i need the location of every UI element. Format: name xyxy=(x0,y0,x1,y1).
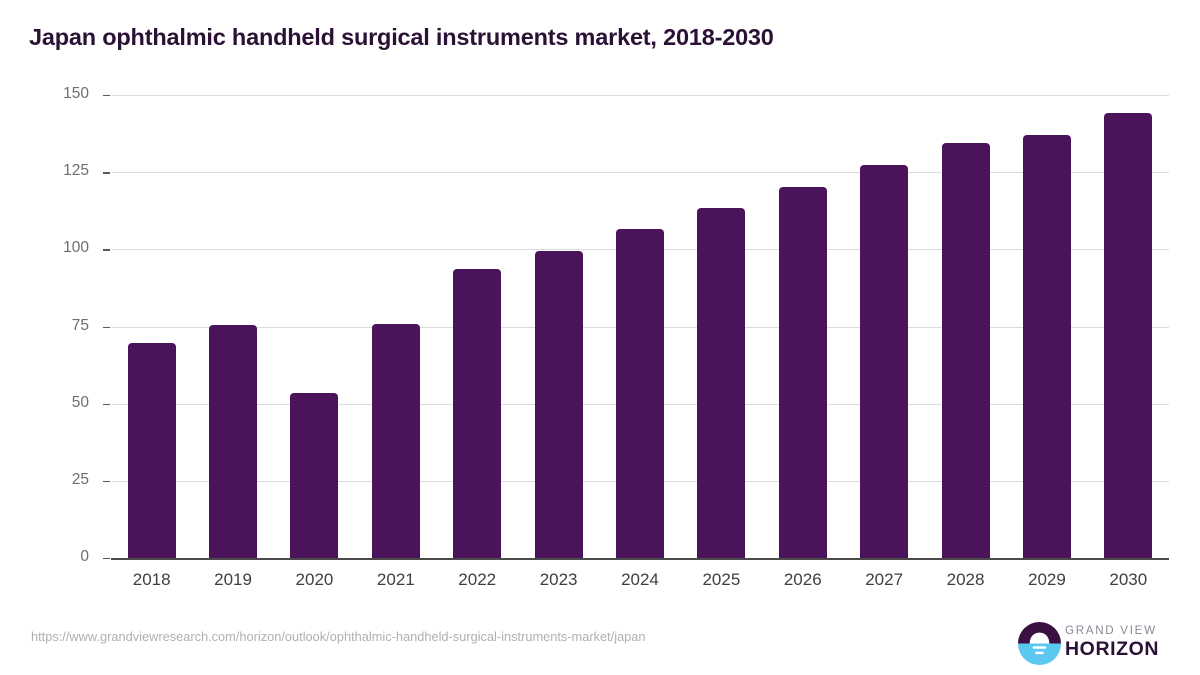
y-axis-tick-label: 100 xyxy=(0,239,89,257)
x-axis-tick-label: 2030 xyxy=(1088,570,1169,590)
chart-page: Japan ophthalmic handheld surgical instr… xyxy=(0,0,1200,675)
y-axis-tick-label: 50 xyxy=(0,394,89,412)
bar[interactable] xyxy=(1023,135,1071,558)
x-axis-tick-label: 2023 xyxy=(518,570,599,590)
y-axis-tick-label: 150 xyxy=(0,85,89,103)
x-axis-tick-label: 2021 xyxy=(355,570,436,590)
x-axis-tick-label: 2024 xyxy=(599,570,680,590)
horizon-sun-circle-icon xyxy=(1018,622,1061,665)
y-axis-tick-mark xyxy=(103,558,110,559)
bar[interactable] xyxy=(535,251,583,558)
y-axis-tick-mark xyxy=(103,95,110,96)
gridline xyxy=(111,95,1169,96)
x-axis-tick-label: 2019 xyxy=(192,570,273,590)
bar[interactable] xyxy=(860,165,908,558)
y-axis-tick-mark xyxy=(103,249,110,250)
x-axis-tick-label: 2028 xyxy=(925,570,1006,590)
source-url[interactable]: https://www.grandviewresearch.com/horizo… xyxy=(31,629,646,644)
y-axis-tick-mark xyxy=(103,404,110,405)
bar[interactable] xyxy=(616,229,664,558)
bar[interactable] xyxy=(779,187,827,558)
x-axis-tick-label: 2025 xyxy=(681,570,762,590)
bar[interactable] xyxy=(453,269,501,558)
y-axis-tick-mark xyxy=(103,172,110,173)
logo-text-grand-view: GRAND VIEW xyxy=(1065,623,1159,638)
gridline xyxy=(111,172,1169,173)
x-axis-tick-label: 2022 xyxy=(437,570,518,590)
y-axis-tick-label: 75 xyxy=(0,317,89,335)
bar[interactable] xyxy=(1104,113,1152,558)
bar[interactable] xyxy=(942,143,990,558)
y-axis-tick-label: 125 xyxy=(0,162,89,180)
bar[interactable] xyxy=(372,324,420,558)
x-axis-line xyxy=(111,558,1169,560)
page-title: Japan ophthalmic handheld surgical instr… xyxy=(29,24,774,51)
x-axis-tick-label: 2020 xyxy=(274,570,355,590)
x-axis-tick-label: 2026 xyxy=(762,570,843,590)
y-axis-tick-mark xyxy=(103,481,110,482)
bar[interactable] xyxy=(290,393,338,558)
x-axis-tick-label: 2027 xyxy=(843,570,924,590)
bar[interactable] xyxy=(128,343,176,558)
bar[interactable] xyxy=(697,208,745,558)
y-axis-tick-label: 0 xyxy=(0,548,89,566)
y-axis-tick-label: 25 xyxy=(0,471,89,489)
x-axis-tick-label: 2018 xyxy=(111,570,192,590)
x-axis-tick-label: 2029 xyxy=(1006,570,1087,590)
bar[interactable] xyxy=(209,325,257,558)
logo-text-horizon: HORIZON xyxy=(1065,638,1159,660)
y-axis-tick-mark xyxy=(103,327,110,328)
grand-view-horizon-logo[interactable]: GRAND VIEW HORIZON xyxy=(1015,620,1183,668)
plot-area xyxy=(111,95,1169,558)
logo-text: GRAND VIEW HORIZON xyxy=(1065,623,1159,660)
